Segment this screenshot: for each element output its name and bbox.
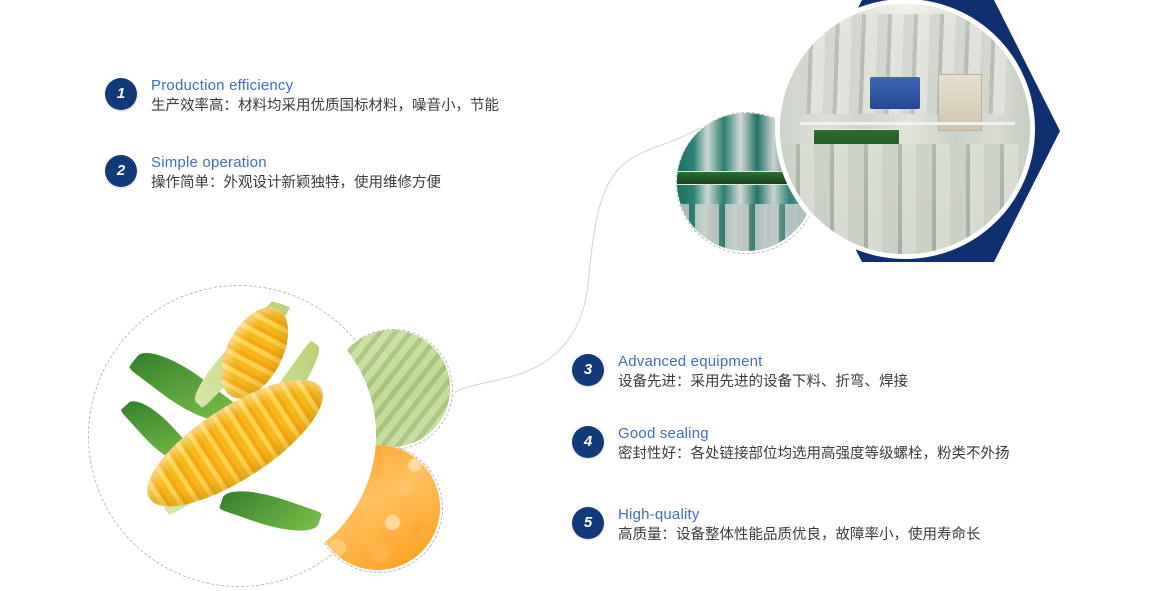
mill-plant-photo xyxy=(780,4,1030,254)
feature-item-2[interactable]: 2 Simple operation 操作简单：外观设计新颖独特，使用维修方便 xyxy=(105,155,441,194)
mill-blue-unit xyxy=(870,77,920,110)
feature-description: 操作简单：外观设计新颖独特，使用维修方便 xyxy=(151,173,441,194)
corn-photo xyxy=(100,297,376,573)
feature-item-3[interactable]: 3 Advanced equipment 设备先进：采用先进的设备下料、折弯、焊… xyxy=(572,354,908,393)
feature-number-badge: 4 xyxy=(572,426,604,458)
feature-heading: High-quality xyxy=(618,505,981,524)
feature-text-block: Production efficiency 生产效率高：材料均采用优质国标材料，… xyxy=(151,76,499,117)
feature-heading: Production efficiency xyxy=(151,76,499,95)
feature-description: 密封性好：各处链接部位均选用高强度等级螺栓，粉类不外扬 xyxy=(618,444,1010,465)
feature-item-1[interactable]: 1 Production efficiency 生产效率高：材料均采用优质国标材… xyxy=(105,78,499,117)
feature-heading: Advanced equipment xyxy=(618,352,908,371)
feature-number-badge: 1 xyxy=(105,78,137,110)
feature-text-block: Simple operation 操作简单：外观设计新颖独特，使用维修方便 xyxy=(151,153,441,194)
feature-heading: Good sealing xyxy=(618,424,1010,443)
mill-banner-sign xyxy=(813,129,900,156)
feature-description: 生产效率高：材料均采用优质国标材料，噪音小，节能 xyxy=(151,96,499,117)
feature-description: 设备先进：采用先进的设备下料、折弯、焊接 xyxy=(618,372,908,393)
feature-number-badge: 2 xyxy=(105,155,137,187)
feature-heading: Simple operation xyxy=(151,153,441,172)
feature-number-badge: 5 xyxy=(572,507,604,539)
feature-item-4[interactable]: 4 Good sealing 密封性好：各处链接部位均选用高强度等级螺栓，粉类不… xyxy=(572,426,1010,465)
corn-photo-image xyxy=(100,297,376,573)
infographic-page: 1 Production efficiency 生产效率高：材料均采用优质国标材… xyxy=(0,0,1154,591)
mill-plant-photo-image xyxy=(780,4,1030,254)
feature-text-block: High-quality 高质量：设备整体性能品质优良，故障率小，使用寿命长 xyxy=(618,505,981,546)
feature-text-block: Good sealing 密封性好：各处链接部位均选用高强度等级螺栓，粉类不外扬 xyxy=(618,424,1010,465)
feature-description: 高质量：设备整体性能品质优良，故障率小，使用寿命长 xyxy=(618,525,981,546)
corn-leaf xyxy=(219,480,323,541)
feature-item-5[interactable]: 5 High-quality 高质量：设备整体性能品质优良，故障率小，使用寿命长 xyxy=(572,507,981,546)
feature-number-badge: 3 xyxy=(572,354,604,386)
mill-railing xyxy=(800,122,1015,125)
feature-text-block: Advanced equipment 设备先进：采用先进的设备下料、折弯、焊接 xyxy=(618,352,908,393)
